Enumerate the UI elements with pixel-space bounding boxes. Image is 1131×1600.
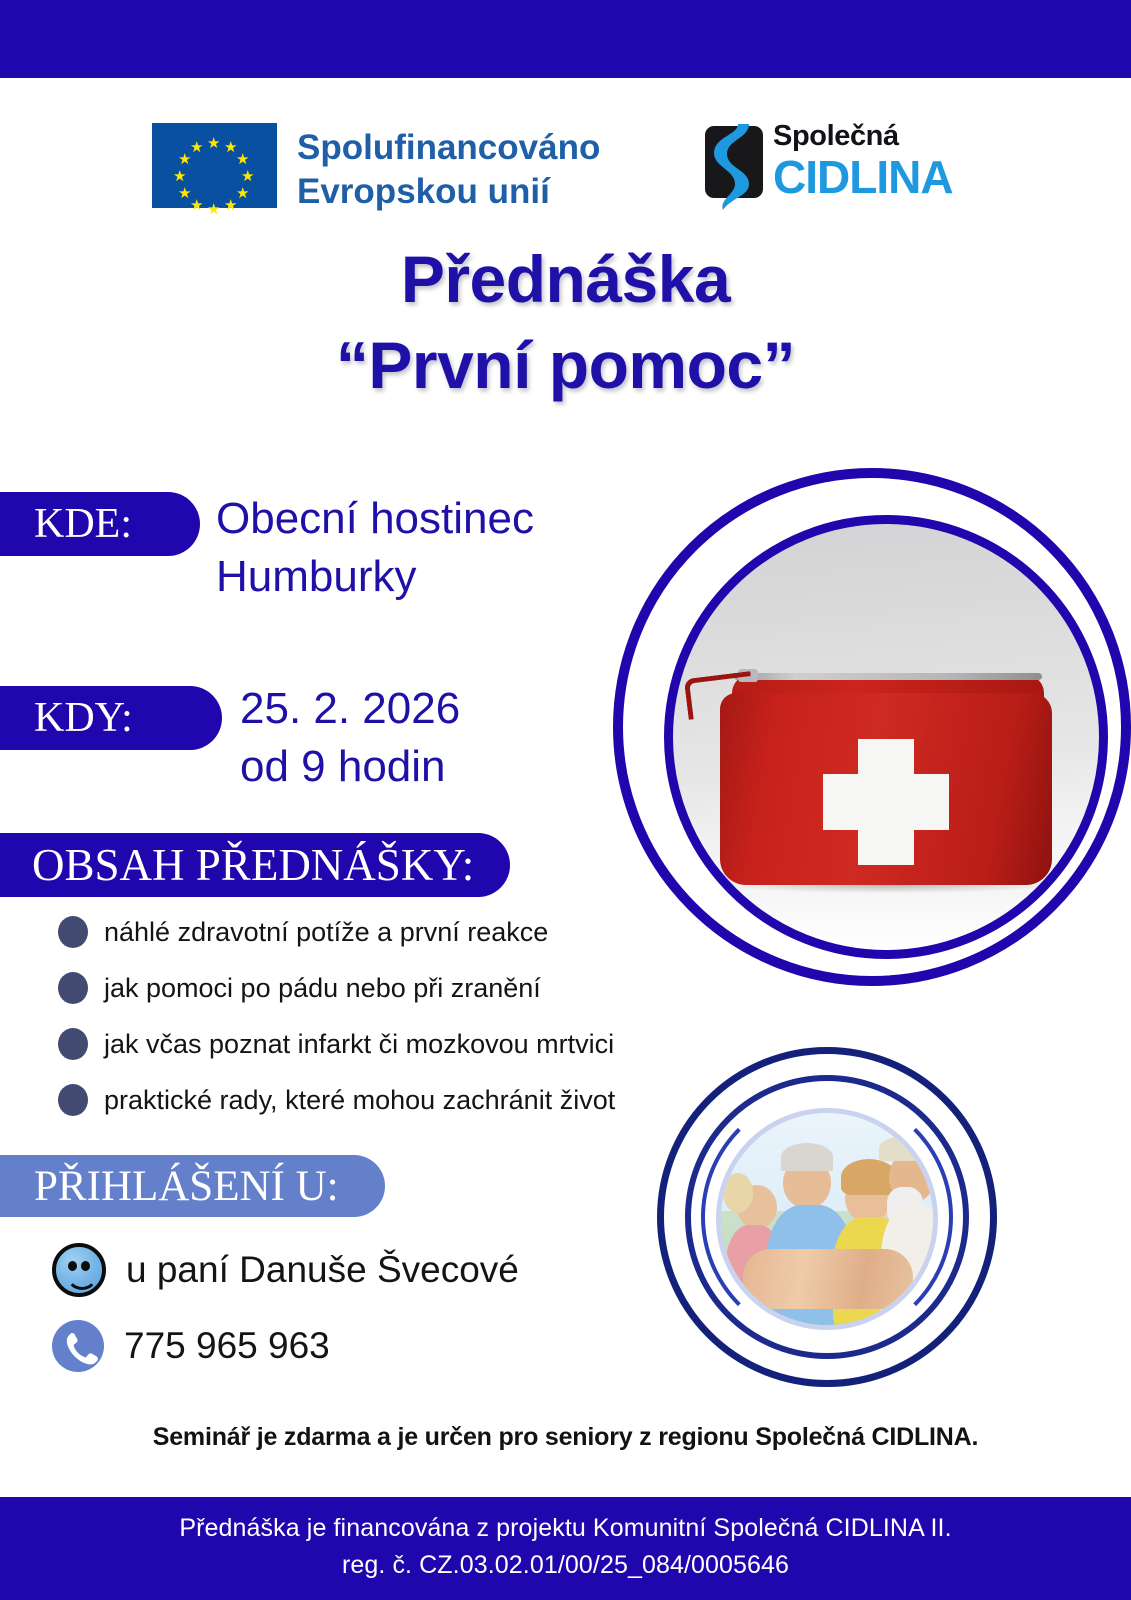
title-line-1: Přednáška bbox=[0, 236, 1131, 322]
label-when: KDY: bbox=[0, 686, 222, 750]
poster-canvas: Spolufinancováno Evropskou unií Společná… bbox=[0, 0, 1131, 1600]
funding-line-1: Přednáška je financována z projektu Komu… bbox=[0, 1510, 1131, 1547]
eu-cofunding-line2: Evropskou unií bbox=[297, 170, 627, 214]
cidlina-word-top: Společná bbox=[773, 120, 899, 153]
value-when-line1: 25. 2. 2026 bbox=[240, 680, 600, 738]
free-seminar-note: Seminář je zdarma a je určen pro seniory… bbox=[0, 1423, 1131, 1452]
label-content-text: OBSAH PŘEDNÁŠKY: bbox=[32, 839, 474, 891]
list-item: náhlé zdravotní potíže a první reakce bbox=[58, 905, 658, 959]
title-line-2: “První pomoc” bbox=[0, 322, 1131, 408]
seniors-photo bbox=[716, 1108, 938, 1330]
funding-line-2: reg. č. CZ.03.02.01/00/25_084/0005646 bbox=[0, 1547, 1131, 1584]
cidlina-word-bottom: CIDLINA bbox=[773, 150, 953, 204]
eu-cofunding-logo bbox=[152, 123, 277, 208]
list-item: praktické rady, které mohou zachránit ži… bbox=[58, 1073, 658, 1127]
first-aid-kit-photo bbox=[672, 523, 1100, 951]
kit-outer-ring bbox=[613, 468, 1131, 986]
poster-title: Přednáška “První pomoc” bbox=[0, 236, 1131, 408]
value-where-line1: Obecní hostinec bbox=[216, 490, 616, 548]
eu-cofunding-line1: Spolufinancováno bbox=[297, 126, 627, 170]
bottom-funding-band: Přednáška je financována z projektu Komu… bbox=[0, 1497, 1131, 1600]
label-signup: PŘIHLÁŠENÍ U: bbox=[0, 1155, 385, 1217]
list-item: jak včas poznat infarkt či mozkovou mrtv… bbox=[58, 1017, 658, 1071]
cidlina-logo: Společná CIDLINA bbox=[705, 120, 930, 212]
eu-flag-icon bbox=[152, 123, 277, 208]
contact-row-phone[interactable]: 775 965 963 bbox=[52, 1308, 652, 1384]
top-brand-band bbox=[0, 0, 1131, 78]
bullet-dot-icon bbox=[58, 972, 88, 1004]
list-item-label: praktické rady, které mohou zachránit ži… bbox=[104, 1085, 615, 1116]
seniors-inner-ring bbox=[685, 1075, 969, 1359]
smiley-face-icon bbox=[52, 1243, 106, 1297]
eu-cofunding-text: Spolufinancováno Evropskou unií bbox=[297, 126, 627, 214]
bullet-dot-icon bbox=[58, 1028, 88, 1060]
value-where: Obecní hostinec Humburky bbox=[216, 490, 616, 606]
contact-row-person: u paní Danuše Švecové bbox=[52, 1232, 652, 1308]
list-item-label: jak pomoci po pádu nebo při zranění bbox=[104, 973, 541, 1004]
list-item-label: náhlé zdravotní potíže a první reakce bbox=[104, 917, 548, 948]
label-content: OBSAH PŘEDNÁŠKY: bbox=[0, 833, 510, 897]
seniors-outer-ring bbox=[657, 1047, 997, 1387]
label-signup-text: PŘIHLÁŠENÍ U: bbox=[34, 1162, 339, 1211]
value-when-line2: od 9 hodin bbox=[240, 738, 600, 796]
bullet-dot-icon bbox=[58, 1084, 88, 1116]
logo-row: Spolufinancováno Evropskou unií Společná… bbox=[0, 118, 1131, 214]
label-where-text: KDE: bbox=[34, 500, 132, 548]
seniors-accent-arcs bbox=[701, 1091, 953, 1343]
value-when: 25. 2. 2026 od 9 hodin bbox=[240, 680, 600, 796]
label-when-text: KDY: bbox=[34, 694, 133, 742]
phone-icon bbox=[52, 1320, 104, 1372]
value-where-line2: Humburky bbox=[216, 548, 616, 606]
contact-person-name: u paní Danuše Švecové bbox=[126, 1249, 519, 1291]
content-list: náhlé zdravotní potíže a první reakce ja… bbox=[58, 905, 658, 1129]
bullet-dot-icon bbox=[58, 916, 88, 948]
list-item: jak pomoci po pádu nebo při zranění bbox=[58, 961, 658, 1015]
list-item-label: jak včas poznat infarkt či mozkovou mrtv… bbox=[104, 1029, 614, 1060]
contact-phone-number: 775 965 963 bbox=[124, 1325, 330, 1367]
label-where: KDE: bbox=[0, 492, 200, 556]
kit-inner-ring bbox=[664, 515, 1108, 959]
signup-contacts: u paní Danuše Švecové 775 965 963 bbox=[52, 1232, 652, 1384]
